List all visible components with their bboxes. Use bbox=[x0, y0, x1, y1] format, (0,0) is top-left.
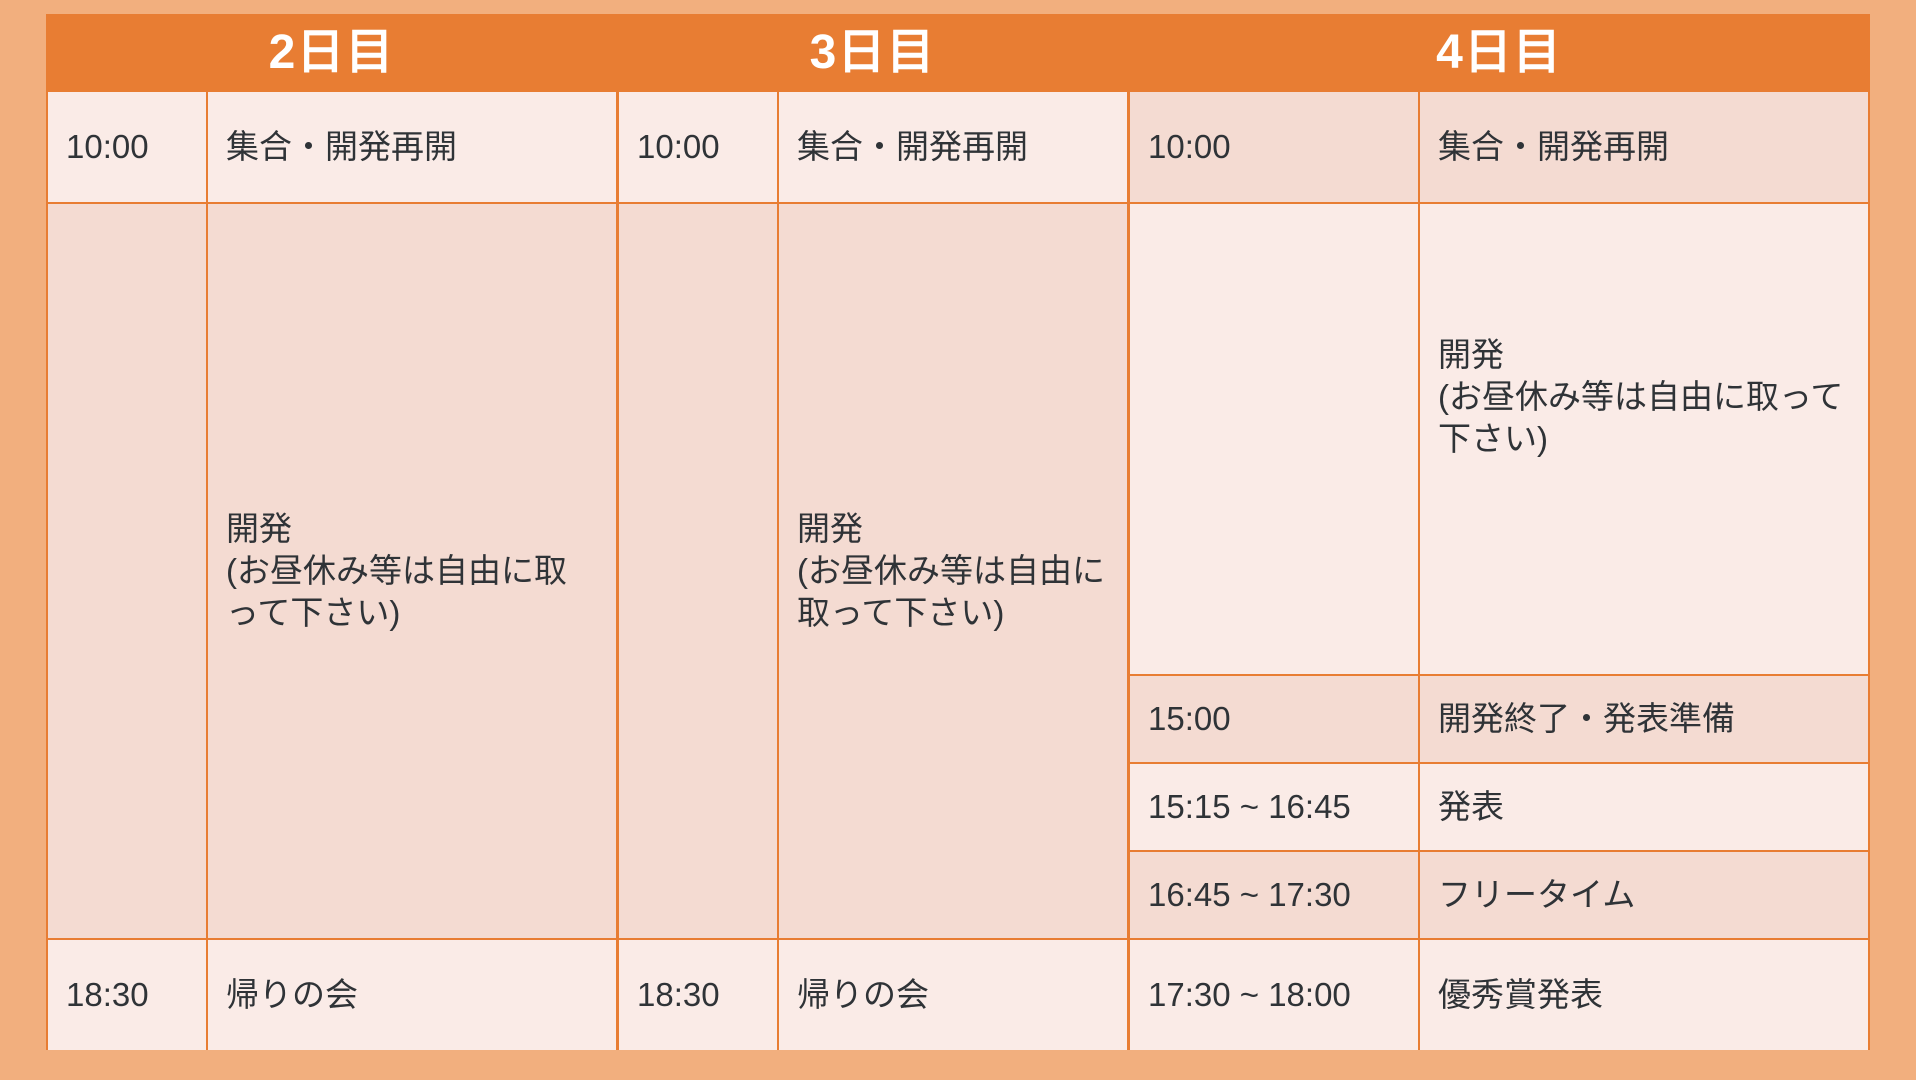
table-row: 15:15 ~ 16:45 発表 bbox=[1130, 764, 1868, 852]
day2-column: 10:00 集合・開発再開 開発 (お昼休み等は自由に取って下さい) 18:30… bbox=[46, 92, 617, 1050]
day4-row1-desc: 開発 (お昼休み等は自由に取って下さい) bbox=[1420, 204, 1868, 674]
day2-row2-desc: 帰りの会 bbox=[208, 940, 616, 1050]
day4-row0-time: 10:00 bbox=[1130, 92, 1420, 202]
day2-row0-time: 10:00 bbox=[48, 92, 208, 202]
day4-row4-desc: フリータイム bbox=[1420, 852, 1868, 938]
day2-row2-time: 18:30 bbox=[48, 940, 208, 1050]
day2-row1-time bbox=[48, 204, 208, 938]
table-row: 18:30 帰りの会 bbox=[48, 940, 616, 1050]
table-body: 10:00 集合・開発再開 開発 (お昼休み等は自由に取って下さい) 18:30… bbox=[46, 92, 1870, 1050]
table-row: 15:00 開発終了・発表準備 bbox=[1130, 676, 1868, 764]
table-row: 10:00 集合・開発再開 bbox=[48, 92, 616, 204]
day4-row4-time: 16:45 ~ 17:30 bbox=[1130, 852, 1420, 938]
table-row: 10:00 集合・開発再開 bbox=[1130, 92, 1868, 204]
day4-row2-time: 15:00 bbox=[1130, 676, 1420, 762]
header-day4: 4日目 bbox=[1128, 14, 1870, 92]
table-row: 開発 (お昼休み等は自由に取って下さい) bbox=[619, 204, 1127, 940]
day3-row1-time bbox=[619, 204, 779, 938]
day4-column: 10:00 集合・開発再開 開発 (お昼休み等は自由に取って下さい) 15:00… bbox=[1128, 92, 1870, 1050]
table-row: 開発 (お昼休み等は自由に取って下さい) bbox=[48, 204, 616, 940]
day3-column: 10:00 集合・開発再開 開発 (お昼休み等は自由に取って下さい) 18:30… bbox=[617, 92, 1128, 1050]
day3-row0-time: 10:00 bbox=[619, 92, 779, 202]
header-day3: 3日目 bbox=[617, 14, 1128, 92]
day3-row2-desc: 帰りの会 bbox=[779, 940, 1127, 1050]
table-row: 18:30 帰りの会 bbox=[619, 940, 1127, 1050]
day4-row3-time: 15:15 ~ 16:45 bbox=[1130, 764, 1420, 850]
day4-row5-time: 17:30 ~ 18:00 bbox=[1130, 940, 1420, 1050]
schedule-table: 2日目 3日目 4日目 10:00 集合・開発再開 開発 (お昼休み等は自由に取… bbox=[46, 14, 1870, 1050]
table-row: 開発 (お昼休み等は自由に取って下さい) bbox=[1130, 204, 1868, 676]
day4-row5-desc: 優秀賞発表 bbox=[1420, 940, 1868, 1050]
day3-row1-desc: 開発 (お昼休み等は自由に取って下さい) bbox=[779, 204, 1127, 938]
day4-row0-desc: 集合・開発再開 bbox=[1420, 92, 1868, 202]
day4-row2-desc: 開発終了・発表準備 bbox=[1420, 676, 1868, 762]
table-row: 17:30 ~ 18:00 優秀賞発表 bbox=[1130, 940, 1868, 1050]
day2-row0-desc: 集合・開発再開 bbox=[208, 92, 616, 202]
day3-row2-time: 18:30 bbox=[619, 940, 779, 1050]
day4-row3-desc: 発表 bbox=[1420, 764, 1868, 850]
day3-row0-desc: 集合・開発再開 bbox=[779, 92, 1127, 202]
day4-row1-time bbox=[1130, 204, 1420, 674]
day2-row1-desc: 開発 (お昼休み等は自由に取って下さい) bbox=[208, 204, 616, 938]
header-day2: 2日目 bbox=[46, 14, 617, 92]
table-row: 16:45 ~ 17:30 フリータイム bbox=[1130, 852, 1868, 940]
table-header-row: 2日目 3日目 4日目 bbox=[46, 14, 1870, 92]
table-row: 10:00 集合・開発再開 bbox=[619, 92, 1127, 204]
